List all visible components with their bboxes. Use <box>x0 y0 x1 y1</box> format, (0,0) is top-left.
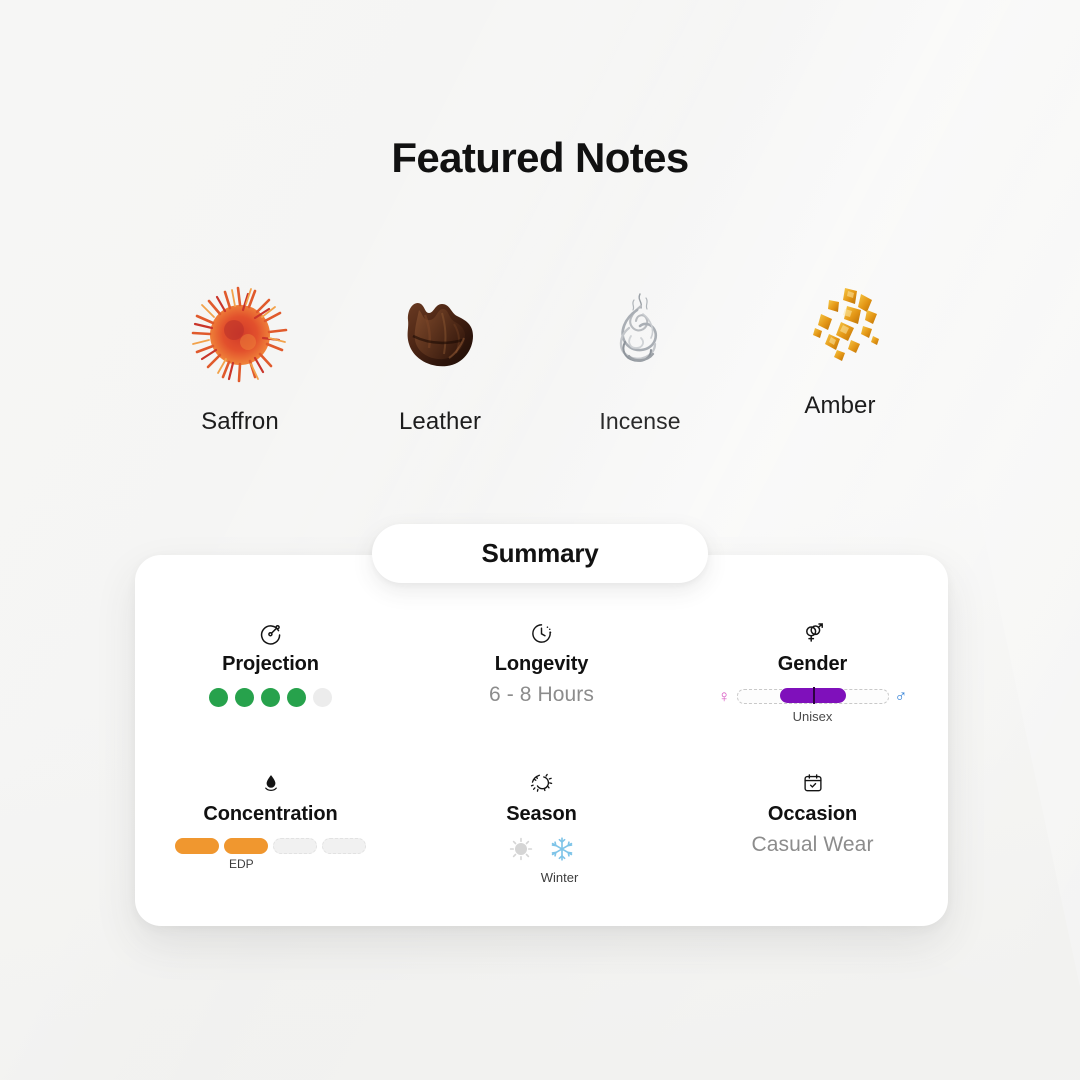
featured-notes-row: Saffron <box>150 280 930 436</box>
cell-title: Occasion <box>768 803 857 826</box>
gender-track[interactable] <box>737 689 889 704</box>
male-symbol-icon: ♂ <box>895 688 908 705</box>
occasion-value: Casual Wear <box>751 833 873 857</box>
note-label: Saffron <box>201 408 279 436</box>
product-summary-screen: Featured Notes <box>0 0 1080 1080</box>
dot-2 <box>235 688 254 707</box>
cell-title: Season <box>506 803 577 826</box>
note-item-incense[interactable]: Incense <box>550 280 730 435</box>
cell-title: Gender <box>778 653 847 676</box>
sun-moon-icon <box>530 768 553 798</box>
dot-3 <box>261 688 280 707</box>
female-symbol-icon: ♀ <box>718 688 731 705</box>
cell-title: Concentration <box>203 803 337 826</box>
season-icons <box>509 836 575 867</box>
gender-venus-mars-icon <box>801 618 825 648</box>
concentration-meter[interactable]: EDP <box>175 838 366 871</box>
summary-pill: Summary <box>372 524 708 583</box>
summary-cell-occasion[interactable]: Occasion Casual Wear <box>677 750 948 900</box>
summary-cell-concentration[interactable]: Concentration EDP <box>135 750 406 900</box>
cell-title: Longevity <box>495 653 589 676</box>
droplet-icon <box>260 768 282 798</box>
calendar-check-icon <box>802 768 824 798</box>
bar-1 <box>175 838 219 854</box>
dot-4 <box>287 688 306 707</box>
cell-title: Projection <box>222 653 319 676</box>
note-item-saffron[interactable]: Saffron <box>150 280 330 436</box>
dot-5 <box>313 688 332 707</box>
dot-1 <box>209 688 228 707</box>
gauge-icon <box>259 618 283 648</box>
leather-hide-image <box>385 280 495 390</box>
note-item-leather[interactable]: Leather <box>350 280 530 436</box>
sun-icon[interactable] <box>509 837 533 866</box>
bar-4 <box>322 838 366 854</box>
note-label: Leather <box>399 408 481 436</box>
amber-resin-image <box>785 270 895 380</box>
summary-title: Summary <box>481 538 598 569</box>
note-label: Incense <box>599 408 680 435</box>
summary-cell-gender[interactable]: Gender ♀ ♂ Unisex <box>677 600 948 750</box>
concentration-bars <box>175 838 366 854</box>
gender-slider[interactable]: ♀ ♂ <box>718 688 908 705</box>
clock-icon <box>530 618 553 648</box>
incense-smoke-image <box>585 280 695 390</box>
summary-cell-projection[interactable]: Projection <box>135 600 406 750</box>
note-item-amber[interactable]: Amber <box>750 270 930 420</box>
snowflake-icon[interactable] <box>549 836 575 867</box>
gender-value: Unisex <box>793 709 833 724</box>
bar-3 <box>273 838 317 854</box>
concentration-value: EDP <box>229 857 254 871</box>
bar-2 <box>224 838 268 854</box>
season-selector[interactable]: Winter <box>505 836 579 885</box>
saffron-threads-image <box>185 280 295 390</box>
summary-grid: Projection Longevity 6 - 8 <box>135 600 948 926</box>
summary-cell-season[interactable]: Season <box>406 750 677 900</box>
summary-cell-longevity[interactable]: Longevity 6 - 8 Hours <box>406 600 677 750</box>
note-label: Amber <box>804 392 875 420</box>
longevity-value: 6 - 8 Hours <box>489 683 594 707</box>
projection-dots[interactable] <box>209 688 332 707</box>
gender-knob[interactable] <box>813 687 815 704</box>
season-value: Winter <box>541 870 579 885</box>
page-title: Featured Notes <box>0 134 1080 182</box>
